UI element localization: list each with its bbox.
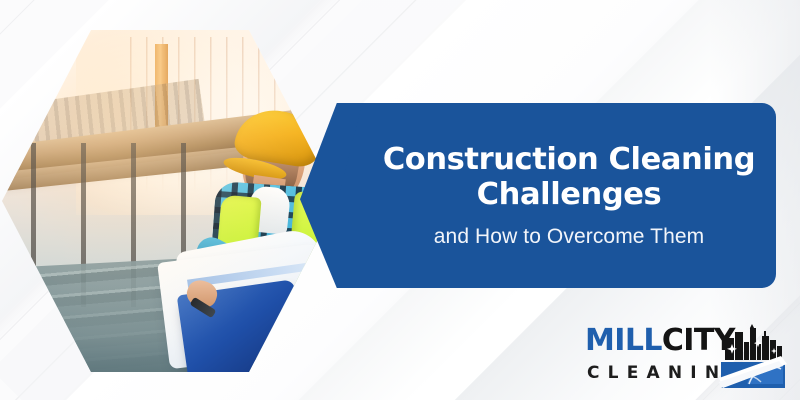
logo-wordmark: MILLCITY [585, 326, 735, 356]
page-title: Construction Cleaning Challenges [383, 142, 755, 213]
headline-banner-content: Construction Cleaning Challenges and How… [348, 103, 776, 288]
brand-logo[interactable]: MILLCITY CLEANING [585, 322, 785, 394]
logo-word-mill: MILL [585, 323, 662, 358]
city-skyline-bridge-icon [719, 322, 787, 390]
marketing-banner: Construction Cleaning Challenges and How… [0, 0, 800, 400]
page-subtitle: and How to Overcome Them [434, 224, 704, 249]
